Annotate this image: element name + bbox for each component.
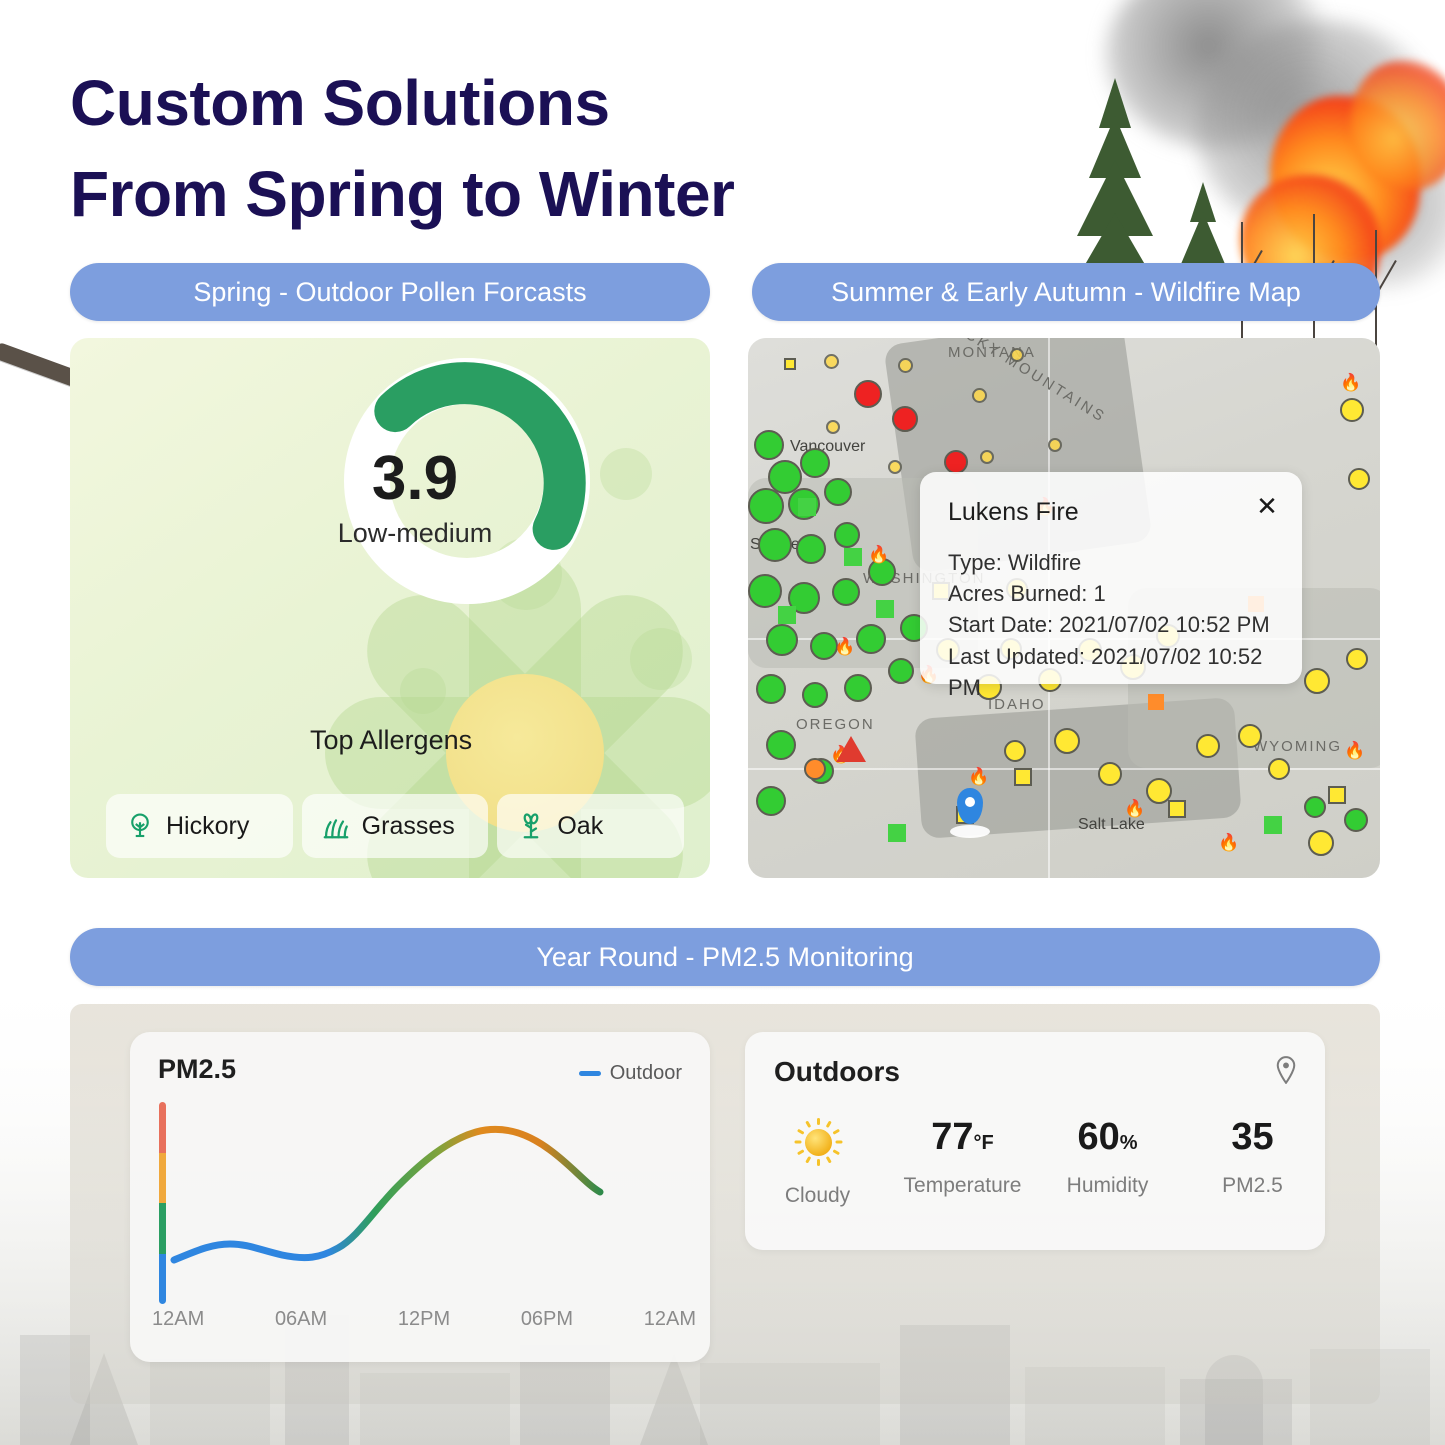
map-marker-moderate-square[interactable] [1168,800,1186,818]
map-marker-moderate[interactable] [1196,734,1220,758]
popup-row-last-updated: Last Updated: 2021/07/02 10:52 PM [948,641,1274,703]
x-tick: 12AM [644,1308,696,1331]
smoke-plume [1105,0,1335,150]
allergen-label: Hickory [166,812,249,841]
sun-ray [832,1149,840,1155]
allergen-label: Oak [557,812,603,841]
poster-page: Custom Solutions From Spring to Winter [0,0,1445,1445]
sun-core [805,1129,832,1156]
map-marker-moderate[interactable] [980,450,994,464]
map-label-wyoming: WYOMING [1253,738,1342,755]
headline-line-1: Custom Solutions [70,67,610,139]
sun-ray [796,1129,804,1135]
map-marker-good[interactable] [754,430,784,460]
map-marker-good-square[interactable] [876,600,894,618]
gauge-label: Low-medium [290,518,540,549]
legend-swatch-outdoor [579,1071,601,1076]
smoke-plume [1195,20,1445,240]
allergen-label: Grasses [362,812,455,841]
map-marker-moderate[interactable] [1004,740,1026,762]
map-marker-good[interactable] [856,624,886,654]
chart-x-axis: 12AM 06AM 12PM 06PM 12AM [152,1308,696,1331]
sun-ray [817,1118,820,1125]
chart-title: PM2.5 [158,1054,236,1085]
outdoors-metrics: Cloudy 77°F Temperature 60% Humidity 35 … [745,1118,1325,1208]
section-pill-spring[interactable]: Spring - Outdoor Pollen Forcasts [70,263,710,321]
map-marker-good[interactable] [1304,796,1326,818]
map-marker-good[interactable] [800,448,830,478]
map-marker-moderate[interactable] [898,358,913,373]
sun-ray [817,1159,820,1166]
metric-pm25: 35 PM2.5 [1180,1118,1325,1208]
map-marker-moderate[interactable] [1340,398,1364,422]
metric-value-temperature: 77 [931,1116,973,1158]
map-marker-good[interactable] [748,574,782,608]
map-marker-good-square[interactable] [778,606,796,624]
bokeh-circle [400,668,446,714]
map-marker-good-square[interactable] [798,498,816,516]
allergen-chip-oak[interactable]: Oak [497,794,684,858]
metric-caption-humidity: Humidity [1035,1174,1180,1198]
metric-caption-weather: Cloudy [745,1184,890,1208]
map-marker-moderate-square[interactable] [1328,786,1346,804]
map-marker-unhealthy[interactable] [892,406,918,432]
bokeh-circle [630,628,692,690]
flame [1350,60,1445,190]
grass-icon [321,811,351,841]
map-marker-good[interactable] [888,658,914,684]
metric-weather: Cloudy [745,1118,890,1208]
close-icon[interactable]: ✕ [1254,494,1280,520]
map-marker-good[interactable] [832,578,860,606]
map-marker-unhealthy[interactable] [944,450,968,474]
map-marker-moderate[interactable] [1304,668,1330,694]
outdoors-summary-card: Outdoors [745,1032,1325,1250]
map-marker-moderate[interactable] [1238,724,1262,748]
x-tick: 12AM [152,1308,204,1331]
metric-caption-pm25: PM2.5 [1180,1174,1325,1198]
map-marker-good[interactable] [766,624,798,656]
legend-label-outdoor: Outdoor [610,1062,682,1085]
pm25-chart-card: PM2.5 Outdoor [130,1032,710,1362]
popup-row-acres: Acres Burned: 1 [948,578,1274,609]
metric-value-humidity: 60 [1077,1116,1119,1158]
sun-ray [796,1149,804,1155]
sun-ray [805,1120,811,1128]
map-marker-moderate[interactable] [1308,830,1334,856]
sun-ray [832,1129,840,1135]
popup-row-start-date: Start Date: 2021/07/02 10:52 PM [948,609,1274,640]
sun-icon [794,1118,842,1166]
fire-icon: 🔥 [1344,742,1365,759]
map-marker-moderate[interactable] [824,354,839,369]
map-marker-good[interactable] [756,674,786,704]
tree-icon [125,811,155,841]
map-marker-moderate-square[interactable] [1014,768,1032,786]
popup-row-type: Type: Wildfire [948,547,1274,578]
map-marker-good[interactable] [748,488,784,524]
pollen-gauge: 3.9 Low-medium [338,352,596,610]
map-marker-unhealthy[interactable] [854,380,882,408]
map-marker-good[interactable] [756,786,786,816]
sun-ray [825,1156,831,1164]
fire-icon: 🔥 [834,638,855,655]
page-title: Custom Solutions From Spring to Winter [70,58,970,240]
map-label-oregon: OREGON [796,716,875,733]
sun-ray [835,1141,842,1144]
map-marker-moderate[interactable] [1348,468,1370,490]
map-marker-good[interactable] [802,682,828,708]
flame [1270,95,1420,260]
x-tick: 12PM [398,1308,450,1331]
map-marker-moderate[interactable] [1268,758,1290,780]
metric-caption-temperature: Temperature [890,1174,1035,1198]
map-marker-good[interactable] [766,730,796,760]
sun-ray [805,1156,811,1164]
fire-icon: 🔥 [1218,834,1239,851]
metric-unit-temperature: °F [974,1132,994,1154]
map-marker-good-square[interactable] [844,548,862,566]
chart-legend: Outdoor [579,1062,682,1085]
location-pin-icon[interactable] [1275,1056,1297,1084]
sun-ray [794,1141,801,1144]
map-marker-good[interactable] [758,528,792,562]
map-marker-moderate[interactable] [1010,348,1024,362]
map-marker-good[interactable] [834,522,860,548]
allergen-chip-grasses[interactable]: Grasses [302,794,489,858]
map-marker-moderate[interactable] [826,420,840,434]
map-marker-moderate[interactable] [1346,648,1368,670]
outdoors-title: Outdoors [774,1056,900,1088]
map-marker-moderate[interactable] [784,358,796,370]
x-tick: 06PM [521,1308,573,1331]
oak-sprout-icon [516,811,546,841]
metric-humidity: 60% Humidity [1035,1118,1180,1208]
map-marker-good[interactable] [824,478,852,506]
map-marker-good[interactable] [796,534,826,564]
gauge-value: 3.9 [290,448,540,510]
section-pill-summer[interactable]: Summer & Early Autumn - Wildfire Map [752,263,1380,321]
map-marker-moderate[interactable] [1098,762,1122,786]
bokeh-circle [600,448,652,500]
map-marker-moderate[interactable] [972,388,987,403]
map-marker-warning-triangle[interactable] [836,736,866,762]
section-pill-year-round[interactable]: Year Round - PM2.5 Monitoring [70,928,1380,986]
pm25-line-chart [130,1092,710,1312]
metric-value-pm25: 35 [1231,1116,1273,1158]
popup-title: Lukens Fire [948,498,1274,527]
map-label-salt-lake: Salt Lake [1078,816,1145,834]
allergen-chip-hickory[interactable]: Hickory [106,794,293,858]
sun-ray [825,1120,831,1128]
headline-line-2: From Spring to Winter [70,149,970,240]
top-allergens-title: Top Allergens [310,725,472,756]
allergen-list: Hickory Grasses Oak [106,794,684,858]
metric-unit-humidity: % [1120,1132,1138,1154]
metric-temperature: 77°F Temperature [890,1118,1035,1208]
map-marker-good[interactable] [844,674,872,702]
map-marker-good-square[interactable] [1264,816,1282,834]
location-pin-shadow [950,825,990,838]
map-marker-moderate[interactable] [1054,728,1080,754]
fire-icon: 🔥 [968,768,989,785]
x-tick: 06AM [275,1308,327,1331]
fire-icon: 🔥 [868,546,889,563]
fire-icon: 🔥 [1124,800,1145,817]
map-marker-moderate[interactable] [888,460,902,474]
fire-icon: 🔥 [1340,374,1361,391]
fire-detail-popup[interactable]: ✕ Lukens Fire Type: Wildfire Acres Burne… [920,472,1302,684]
map-marker-unhealthy-sensitive[interactable] [804,758,826,780]
map-marker-good-square[interactable] [888,824,906,842]
map-marker-moderate[interactable] [1048,438,1062,452]
map-marker-good[interactable] [1344,808,1368,832]
map-label-vancouver: Vancouver [790,438,865,456]
